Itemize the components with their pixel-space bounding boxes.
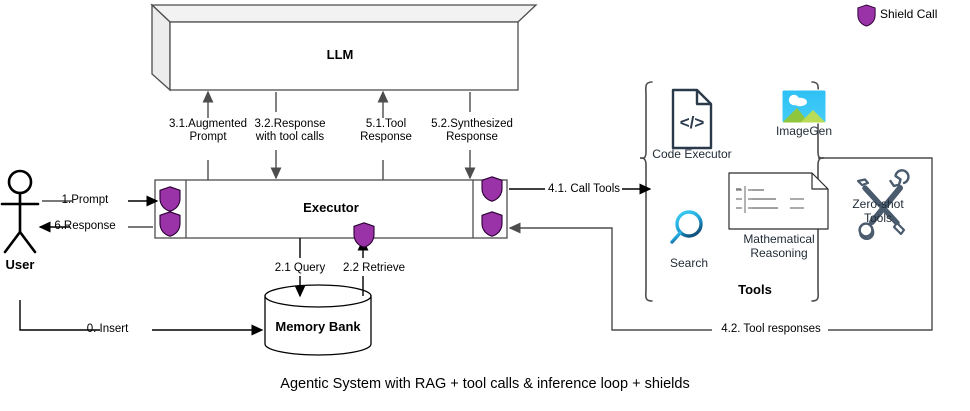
shield-icon-executor-out-top: [482, 177, 502, 201]
user-node: [2, 171, 38, 252]
tool-label-search: Search: [656, 256, 722, 270]
tool-label-zero-shot-tools: Zero-shot Tools: [842, 197, 914, 225]
edge-label-tool-responses: 4.2. Tool responses: [714, 323, 828, 336]
edge-label-call-tools: 4.1. Call Tools: [541, 183, 627, 196]
code-document-icon: </>: [673, 90, 711, 148]
user-label: User: [0, 258, 60, 271]
shield-icon-executor-in-bottom: [160, 212, 180, 236]
edge-label-response: 6.Response: [45, 220, 125, 233]
edge-label-synthesized-response: 5.2.Synthesized Response: [407, 118, 537, 144]
shield-icon-executor-in-top: [160, 187, 180, 211]
shield-icon-executor-out-bottom: [482, 212, 502, 236]
edge-label-prompt: 1.Prompt: [45, 194, 125, 207]
diagram-canvas: </>: [0, 0, 970, 411]
tool-label-imagegen: ImageGen: [768, 124, 840, 138]
tool-label-code-executor: Code Executor: [647, 147, 737, 161]
executor-label: Executor: [271, 201, 391, 214]
edge-label-insert: 0. Insert: [65, 323, 150, 336]
edge-label-retrieve: 2.2 Retrieve: [328, 262, 420, 275]
tool-label-math-reasoning: Mathematical Reasoning: [733, 232, 825, 260]
svg-text:</>: </>: [680, 113, 705, 132]
shield-icon-memory: [354, 223, 374, 247]
diagram-caption: Agentic System with RAG + tool calls & i…: [0, 376, 970, 392]
legend-label: Shield Call: [880, 8, 970, 21]
image-icon: [782, 90, 826, 123]
llm-label: LLM: [280, 48, 400, 61]
shield-icon-legend: [858, 5, 875, 26]
tools-group-label: Tools: [710, 283, 800, 296]
magnifier-icon: [672, 212, 701, 242]
memory-bank-label: Memory Bank: [258, 320, 378, 333]
math-document-icon: [729, 173, 828, 229]
